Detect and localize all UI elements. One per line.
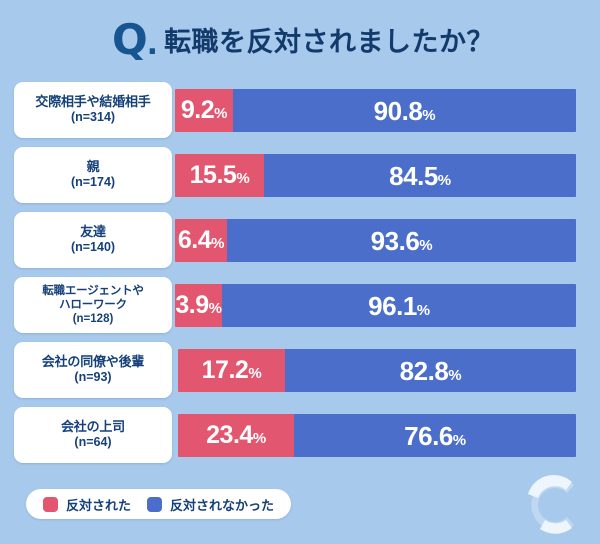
chart-row: 友達(n=140)6.4%93.6% (0, 208, 600, 273)
bar-value-opposed: 6.4% (178, 228, 224, 253)
bar-segment-opposed: 23.4% (178, 414, 294, 457)
percent-sign: % (422, 107, 435, 124)
bar-value-opposed: 15.5% (190, 163, 250, 188)
category-label-line: 会社の上司 (61, 419, 125, 435)
value-number: 6.4 (178, 226, 211, 254)
red-square-swatch (43, 497, 58, 512)
chart-row: 会社の同僚や後輩(n=93)17.2%82.8% (0, 338, 600, 403)
category-label-box: 転職エージェントやハローワーク(n=128) (14, 277, 172, 333)
stacked-bar: 3.9%96.1% (175, 284, 576, 327)
category-label-box: 親(n=174) (14, 147, 172, 203)
bar-value-not-opposed: 82.8% (400, 358, 462, 384)
value-number: 17.2 (202, 356, 249, 384)
percent-sign: % (236, 170, 249, 187)
title-text: 転職を反対されましたか？ (164, 20, 494, 59)
bar-value-opposed: 17.2% (202, 358, 262, 383)
category-label-line: 転職エージェントや (42, 284, 143, 298)
value-number: 93.6 (371, 226, 420, 256)
value-number: 96.1 (368, 291, 417, 321)
legend-item: 反対された (43, 495, 131, 514)
bar-segment-not-opposed: 96.1% (222, 284, 576, 327)
legend-item: 反対されなかった (147, 495, 274, 514)
bar-segment-opposed: 3.9% (175, 284, 222, 327)
category-label-box: 会社の上司(n=64) (14, 407, 172, 463)
bar-segment-not-opposed: 93.6% (227, 219, 576, 262)
category-label-box: 友達(n=140) (14, 212, 172, 268)
bar-value-not-opposed: 76.6% (404, 423, 466, 449)
bar-segment-not-opposed: 82.8% (285, 349, 576, 392)
page-title: Q. 転職を反対されましたか？ (0, 0, 600, 78)
stacked-bar: 17.2%82.8% (178, 349, 576, 392)
chart-legend: 反対された反対されなかった (26, 489, 291, 519)
chart-row: 転職エージェントやハローワーク(n=128)3.9%96.1% (0, 273, 600, 338)
blue-square-swatch (147, 497, 162, 512)
bar-segment-not-opposed: 90.8% (233, 89, 576, 132)
percent-sign: % (248, 365, 261, 382)
percent-sign: % (214, 105, 227, 122)
stacked-bar: 23.4%76.6% (178, 414, 576, 457)
bar-value-opposed: 9.2% (181, 98, 227, 123)
bar-segment-not-opposed: 84.5% (264, 154, 576, 197)
value-number: 3.9 (175, 291, 208, 319)
value-number: 76.6 (404, 421, 453, 451)
stacked-bar: 9.2%90.8% (175, 89, 576, 132)
percent-sign: % (211, 235, 224, 252)
percent-sign: % (448, 367, 461, 384)
category-label-line: 交際相手や結婚相手 (35, 94, 150, 110)
value-number: 90.8 (374, 96, 423, 126)
stacked-bar-chart: 交際相手や結婚相手(n=314)9.2%90.8%親(n=174)15.5%84… (0, 78, 600, 468)
category-label-box: 会社の同僚や後輩(n=93) (14, 342, 172, 398)
percent-sign: % (417, 302, 430, 319)
value-number: 9.2 (181, 96, 214, 124)
bar-value-not-opposed: 96.1% (368, 293, 430, 319)
bar-value-opposed: 3.9% (175, 293, 221, 318)
bar-value-not-opposed: 90.8% (374, 98, 436, 124)
value-number: 82.8 (400, 356, 449, 386)
c-logo-watermark (514, 472, 586, 538)
bar-segment-opposed: 17.2% (178, 349, 285, 392)
bar-value-not-opposed: 93.6% (371, 228, 433, 254)
sample-size-label: (n=64) (74, 435, 111, 450)
category-label-line: 親 (87, 159, 100, 175)
sample-size-label: (n=93) (74, 370, 111, 385)
category-label-line: 会社の同僚や後輩 (42, 354, 144, 370)
legend-label: 反対された (66, 495, 131, 514)
bar-value-opposed: 23.4% (206, 423, 266, 448)
percent-sign: % (419, 237, 432, 254)
sample-size-label: (n=314) (71, 110, 115, 125)
chart-row: 会社の上司(n=64)23.4%76.6% (0, 403, 600, 468)
value-number: 23.4 (206, 421, 253, 449)
legend-label: 反対されなかった (170, 495, 274, 514)
value-number: 15.5 (190, 161, 237, 189)
bar-segment-opposed: 15.5% (175, 154, 264, 197)
stacked-bar: 6.4%93.6% (175, 219, 576, 262)
sample-size-label: (n=140) (71, 240, 115, 255)
bar-value-not-opposed: 84.5% (389, 163, 451, 189)
percent-sign: % (209, 300, 222, 317)
category-label-line: ハローワーク (59, 298, 127, 312)
percent-sign: % (438, 172, 451, 189)
category-label-box: 交際相手や結婚相手(n=314) (14, 82, 172, 138)
bar-segment-not-opposed: 76.6% (294, 414, 576, 457)
bar-segment-opposed: 6.4% (175, 219, 227, 262)
stacked-bar: 15.5%84.5% (175, 154, 576, 197)
percent-sign: % (253, 430, 266, 447)
question-mark-icon: Q. (112, 19, 157, 61)
chart-row: 交際相手や結婚相手(n=314)9.2%90.8% (0, 78, 600, 143)
sample-size-label: (n=128) (73, 312, 114, 326)
bar-segment-opposed: 9.2% (175, 89, 233, 132)
sample-size-label: (n=174) (71, 175, 115, 190)
value-number: 84.5 (389, 161, 438, 191)
percent-sign: % (453, 432, 466, 449)
chart-row: 親(n=174)15.5%84.5% (0, 143, 600, 208)
category-label-line: 友達 (80, 224, 106, 240)
